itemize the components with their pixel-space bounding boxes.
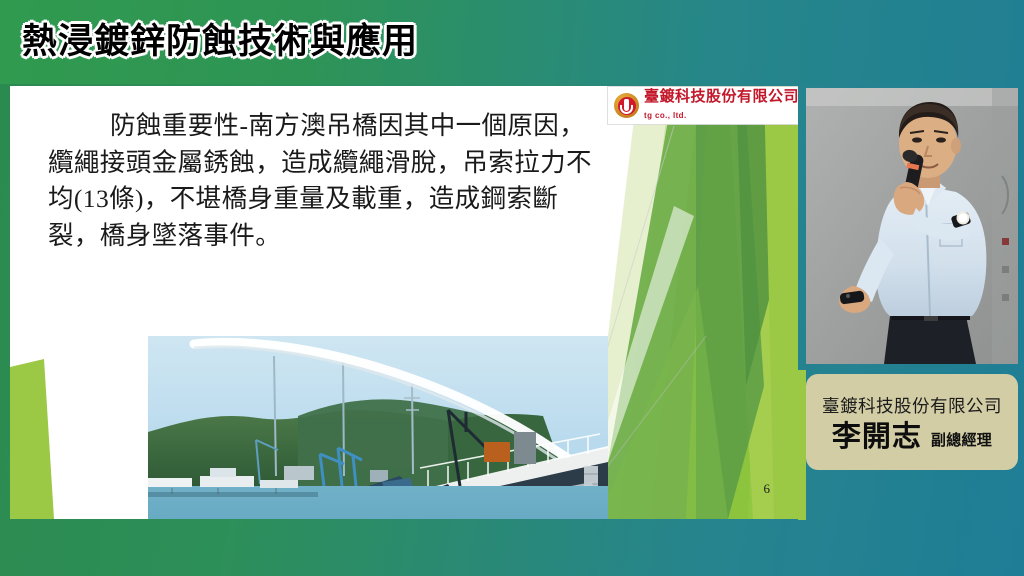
slide-page-number: 6: [764, 481, 771, 497]
presentation-stage: 熱浸鍍鋅防蝕技術與應用: [0, 0, 1024, 576]
speaker-video-feed[interactable]: [806, 88, 1018, 364]
slide-canvas: 防蝕重要性-南方澳吊橋因其中一個原因，纜繩接頭金屬銹蝕，造成纜繩滑脫，吊索拉力不…: [10, 86, 798, 519]
speaker-nameplate: 臺鍍科技股份有限公司 李開志 副總經理: [806, 374, 1018, 470]
decorative-green-polygon-left: [10, 359, 120, 519]
decorative-green-polygons-right: [578, 86, 798, 519]
nameplate-speaker-title: 副總經理: [931, 429, 992, 452]
nameplate-company: 臺鍍科技股份有限公司: [822, 393, 1002, 418]
company-logo: 臺鍍科技股份有限公司 tg co., ltd.: [608, 87, 798, 124]
logo-company-english: tg co., ltd.: [644, 111, 687, 120]
slide-body-text: 防蝕重要性-南方澳吊橋因其中一個原因，纜繩接頭金屬銹蝕，造成纜繩滑脫，吊索拉力不…: [48, 108, 608, 255]
flame-circle-icon: [614, 93, 639, 118]
nameplate-speaker-name: 李開志: [832, 422, 922, 451]
page-title: 熱浸鍍鋅防蝕技術與應用: [22, 24, 418, 59]
slide-header-bar: 熱浸鍍鋅防蝕技術與應用: [0, 0, 1024, 84]
logo-company-chinese: 臺鍍科技股份有限公司: [644, 89, 798, 105]
bridge-collapse-photo: [148, 336, 608, 519]
accent-green-strip: [798, 370, 806, 520]
